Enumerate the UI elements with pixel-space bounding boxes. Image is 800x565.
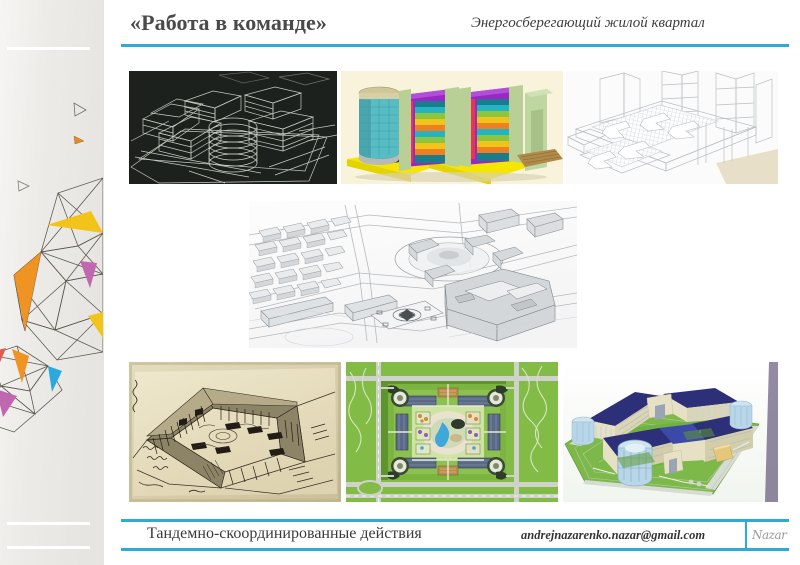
- sidebar-rule-top: [7, 47, 90, 50]
- image-color-model: [341, 71, 563, 184]
- slide-subtitle: Энергосберегающий жилой квартал: [471, 15, 705, 32]
- footer-caption: Тандемно-скоординированные действия: [147, 525, 422, 543]
- image-pencil-sketch: [129, 362, 341, 502]
- footer-email[interactable]: andrejnazarenko.nazar@gmail.com: [521, 528, 705, 543]
- slide-title: «Работа в команде»: [130, 10, 327, 36]
- header-divider-rule: [121, 44, 789, 47]
- footer-divider-rule-top: [121, 519, 789, 522]
- footer-separator: [745, 522, 747, 548]
- image-wireframe-light: [566, 71, 778, 184]
- image-wireframe-dark: [129, 71, 337, 184]
- sidebar-rule-bottom-1: [7, 522, 90, 525]
- nazar-signature-logo: Nazar: [752, 528, 792, 546]
- sidebar-rule-bottom-2: [7, 546, 90, 549]
- sidebar-divider: [103, 0, 104, 565]
- slide-header: «Работа в команде» Энергосберегающий жил…: [121, 10, 789, 44]
- image-site-plan: [346, 362, 558, 502]
- presentation-slide: «Работа в команде» Энергосберегающий жил…: [0, 0, 800, 565]
- footer-divider-rule-bottom: [121, 548, 789, 551]
- low-poly-graphic: [0, 0, 103, 565]
- image-render-3d: [563, 362, 778, 502]
- decorative-sidebar: [0, 0, 103, 565]
- image-masterplan: [249, 201, 577, 348]
